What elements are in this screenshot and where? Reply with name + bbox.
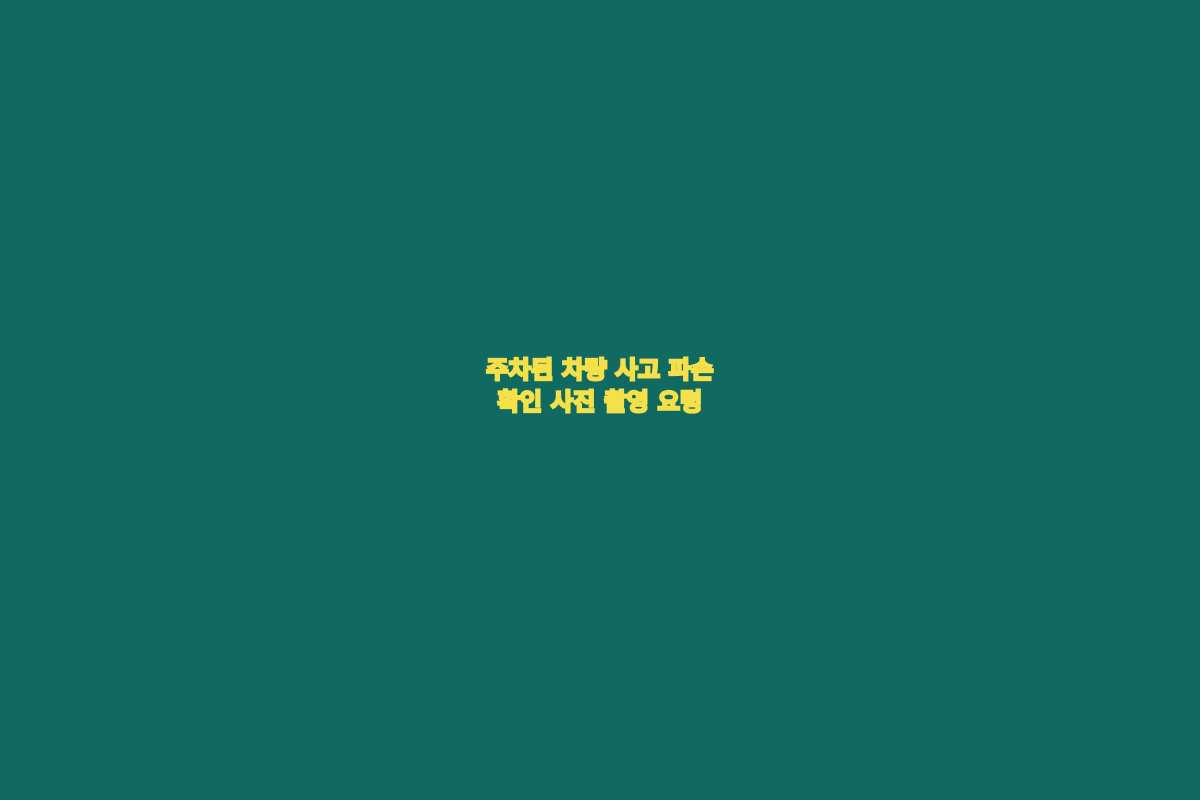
headline-line-1: 주차된 차량 사고 파손 [0, 355, 1200, 387]
headline-block: 주차된 차량 사고 파손 확인 사진 촬영 요령 [0, 355, 1200, 419]
headline-line-2: 확인 사진 촬영 요령 [0, 387, 1200, 419]
poster-canvas: 주차된 차량 사고 파손 확인 사진 촬영 요령 [0, 0, 1200, 800]
